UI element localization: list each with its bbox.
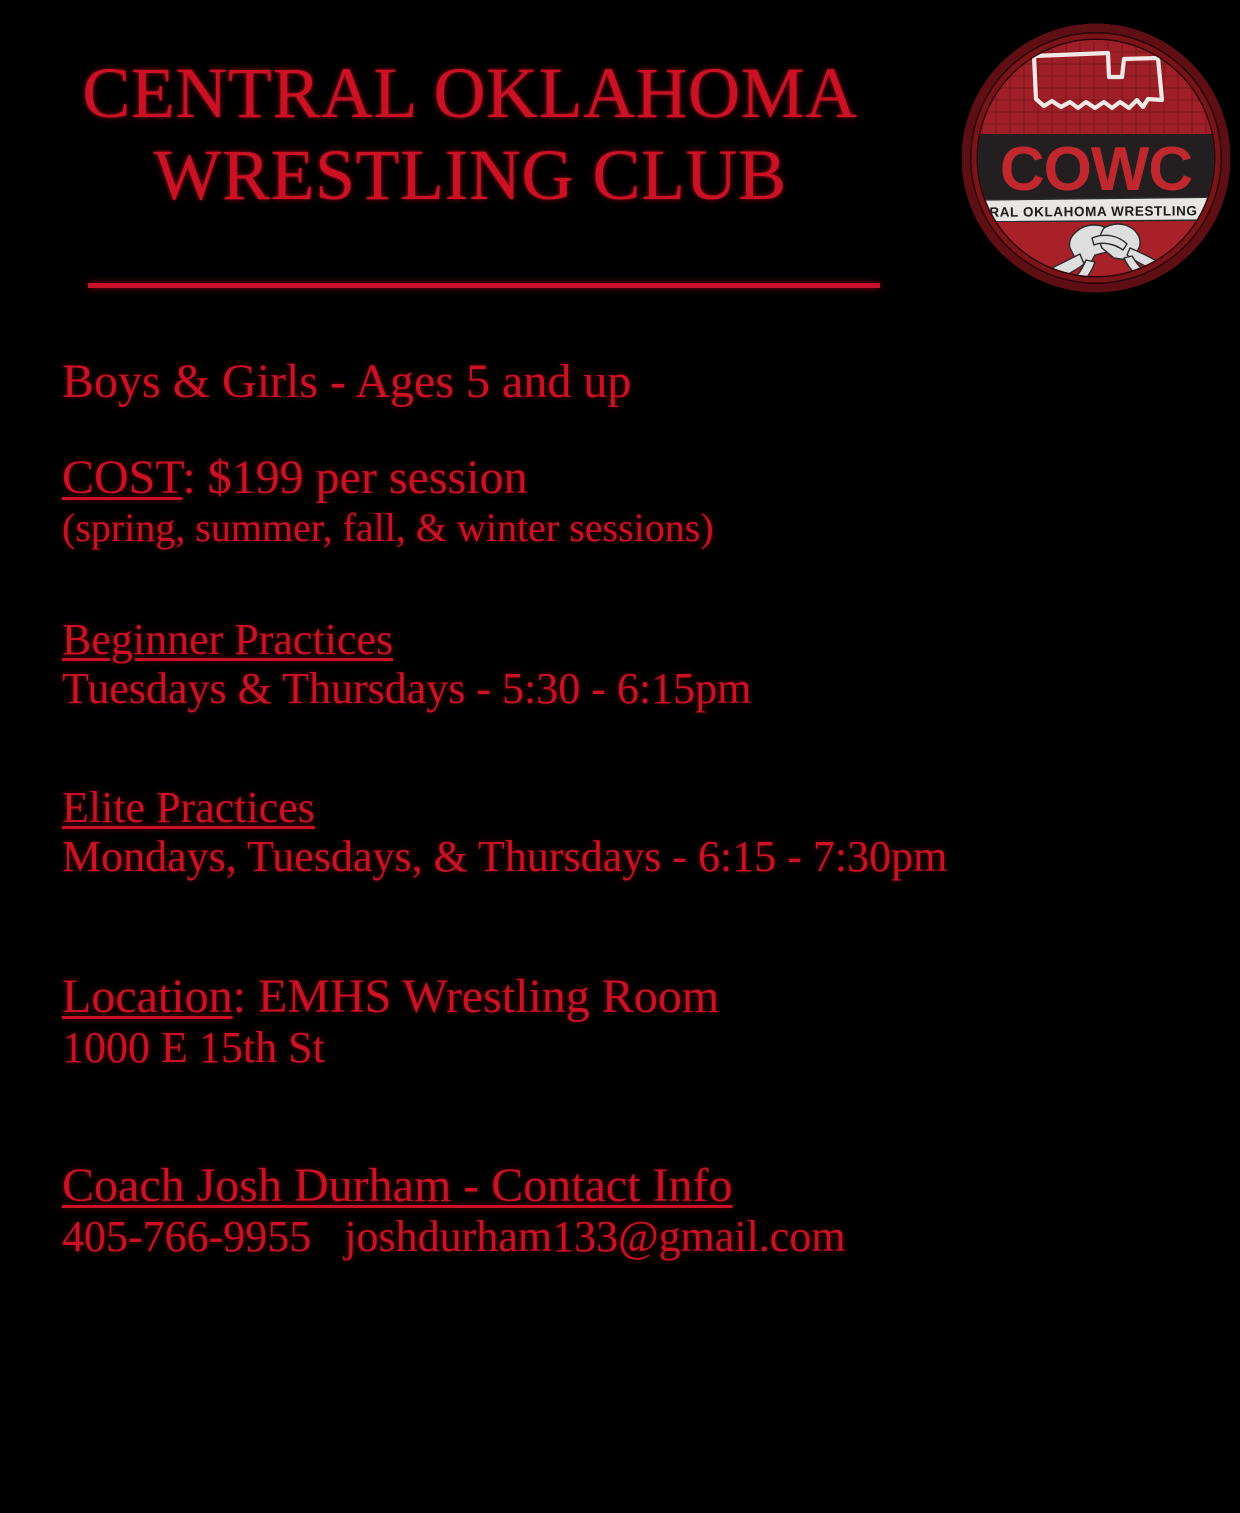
location-line: Location: EMHS Wrestling Room xyxy=(62,970,1202,1024)
audience-line: Boys & Girls - Ages 5 and up xyxy=(62,355,1202,409)
elite-practices-section: Elite Practices Mondays, Tuesdays, & Thu… xyxy=(62,783,1202,882)
logo-banner-text: CENTRAL OKLAHOMA WRESTLING CLUB xyxy=(962,203,1230,220)
contact-heading: Coach Josh Durham - Contact Info xyxy=(62,1159,1202,1213)
spacer xyxy=(62,1073,1202,1159)
title-line-2: WRESTLING CLUB xyxy=(0,134,940,216)
location-label: Location xyxy=(62,970,233,1023)
spacer xyxy=(62,713,1202,783)
cowc-logo: COWC CENTRAL OKLAHOMA WRESTLING CLUB xyxy=(962,22,1230,294)
contact-section: Coach Josh Durham - Contact Info 405-766… xyxy=(62,1159,1202,1262)
beginner-practices-section: Beginner Practices Tuesdays & Thursdays … xyxy=(62,615,1202,714)
beginner-schedule: Tuesdays & Thursdays - 5:30 - 6:15pm xyxy=(62,664,1202,713)
contact-phone: 405-766-9955 xyxy=(62,1212,311,1261)
cost-section: COST: $199 per session (spring, summer, … xyxy=(62,451,1202,551)
cost-line: COST: $199 per session xyxy=(62,451,1202,505)
spacer xyxy=(62,409,1202,451)
elite-heading: Elite Practices xyxy=(62,783,1202,832)
location-section: Location: EMHS Wrestling Room 1000 E 15t… xyxy=(62,970,1202,1073)
spacer xyxy=(62,882,1202,970)
contact-line: 405-766-9955 joshdurham133@gmail.com xyxy=(62,1212,1202,1261)
spacer xyxy=(62,551,1202,615)
flyer-root: CENTRAL OKLAHOMA WRESTLING CLUB xyxy=(0,0,1240,1513)
logo-acronym-text: COWC xyxy=(1000,135,1193,204)
elite-schedule: Mondays, Tuesdays, & Thursdays - 6:15 - … xyxy=(62,832,1202,881)
location-value: : EMHS Wrestling Room xyxy=(233,970,720,1023)
audience-section: Boys & Girls - Ages 5 and up xyxy=(62,355,1202,409)
beginner-heading: Beginner Practices xyxy=(62,615,1202,664)
cowc-logo-svg: COWC CENTRAL OKLAHOMA WRESTLING CLUB xyxy=(962,22,1230,294)
title-line-1: CENTRAL OKLAHOMA xyxy=(0,52,940,134)
contact-email: joshdurham133@gmail.com xyxy=(344,1212,845,1261)
flyer-title: CENTRAL OKLAHOMA WRESTLING CLUB xyxy=(0,52,940,216)
cost-label: COST xyxy=(62,451,182,504)
title-divider xyxy=(88,283,880,288)
cost-note: (spring, summer, fall, & winter sessions… xyxy=(62,505,1202,551)
flyer-body: Boys & Girls - Ages 5 and up COST: $199 … xyxy=(62,355,1202,1262)
cost-value: : $199 per session xyxy=(182,451,527,504)
location-address: 1000 E 15th St xyxy=(62,1023,1202,1072)
